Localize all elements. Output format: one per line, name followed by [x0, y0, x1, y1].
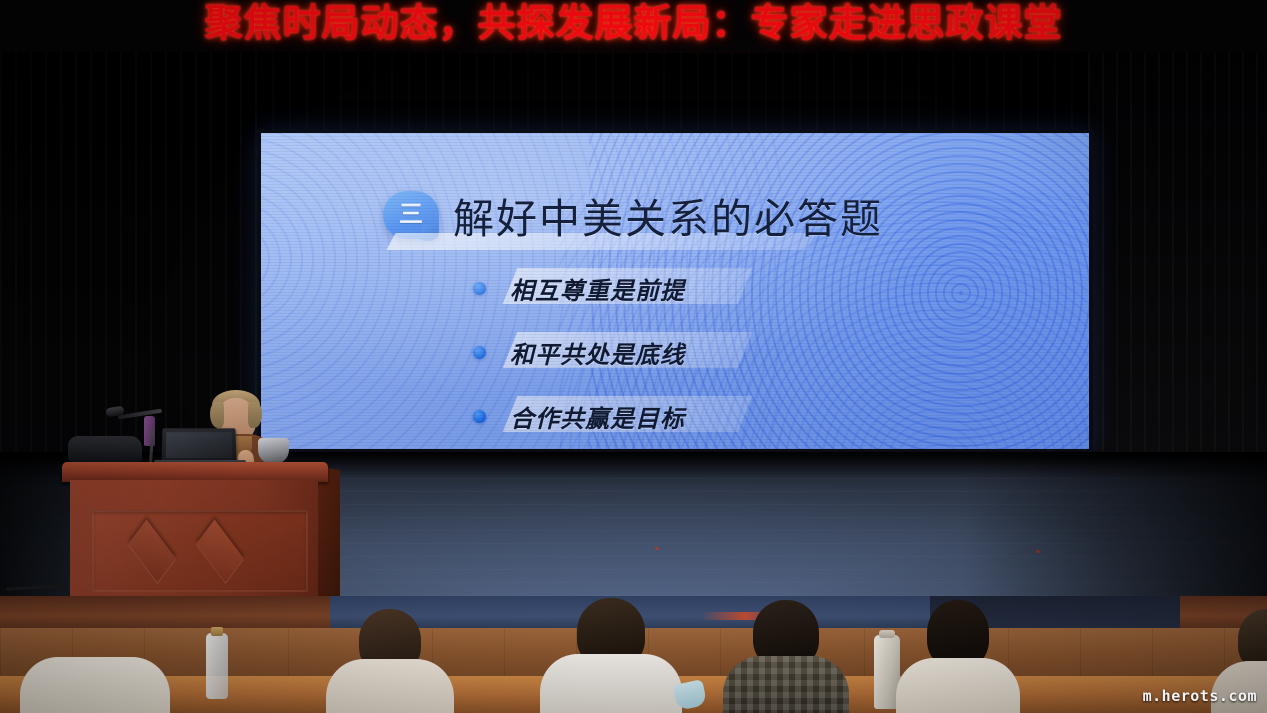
person-body	[540, 654, 682, 713]
lectern-top-surface	[62, 462, 328, 482]
speaker-hair-right	[248, 402, 262, 428]
list-item: 和平共处是底线	[473, 330, 685, 374]
audience-person	[30, 631, 160, 713]
bullet-text: 合作共赢是目标	[510, 399, 685, 434]
person-body	[896, 658, 1020, 713]
person-body	[326, 659, 454, 713]
microphone-arm	[118, 409, 162, 420]
lectern-recessed-panel	[92, 510, 308, 592]
slide-title-row: 三 解好中美关系的必答题	[383, 185, 883, 245]
bullet-text: 和平共处是底线	[510, 335, 685, 370]
audience-person	[546, 596, 676, 713]
slide-content: 三 解好中美关系的必答题 相互尊重是前提 和平共处是底线	[261, 133, 1089, 449]
laptop-screen	[161, 428, 236, 464]
event-banner: 聚焦时局动态，共探发展新局：专家走进思政课堂	[0, 0, 1267, 52]
list-item: 相互尊重是前提	[473, 266, 685, 310]
slide-title: 解好中美关系的必答题	[453, 185, 883, 245]
lectern-front	[70, 480, 318, 608]
audience-person	[330, 601, 450, 713]
bullet-text: 相互尊重是前提	[510, 271, 685, 306]
audience-foreground	[0, 596, 1267, 713]
water-bottle	[206, 633, 228, 699]
bullet-dot-icon	[473, 282, 486, 295]
metal-cup	[258, 438, 289, 464]
banner-title: 聚焦时局动态，共探发展新局：专家走进思政课堂	[0, 0, 1267, 48]
speaker-hair-left	[210, 402, 224, 428]
section-number-badge-icon: 三	[383, 191, 439, 239]
list-item: 合作共赢是目标	[473, 394, 685, 438]
audience-person	[726, 596, 846, 713]
badge-glyph: 三	[399, 202, 423, 226]
lectern-diamond-left	[128, 520, 175, 583]
lectern-side-panel	[316, 466, 340, 611]
lectern-diamond-right	[196, 520, 243, 583]
photo-scene: 三 解好中美关系的必答题 相互尊重是前提 和平共处是底线	[0, 0, 1267, 713]
bag-on-lectern	[68, 436, 142, 462]
bullet-dot-icon	[473, 346, 486, 359]
person-body	[20, 657, 170, 713]
bullet-dot-icon	[473, 410, 486, 423]
projection-screen: 三 解好中美关系的必答题 相互尊重是前提 和平共处是底线	[261, 133, 1089, 449]
wooden-lectern	[62, 462, 340, 610]
audience-person	[900, 596, 1016, 713]
watermark: m.herots.com	[1143, 687, 1257, 705]
lectern-group	[62, 380, 352, 615]
slide-bullet-list: 相互尊重是前提 和平共处是底线 合作共赢是目标	[473, 266, 685, 449]
person-body	[723, 656, 849, 713]
